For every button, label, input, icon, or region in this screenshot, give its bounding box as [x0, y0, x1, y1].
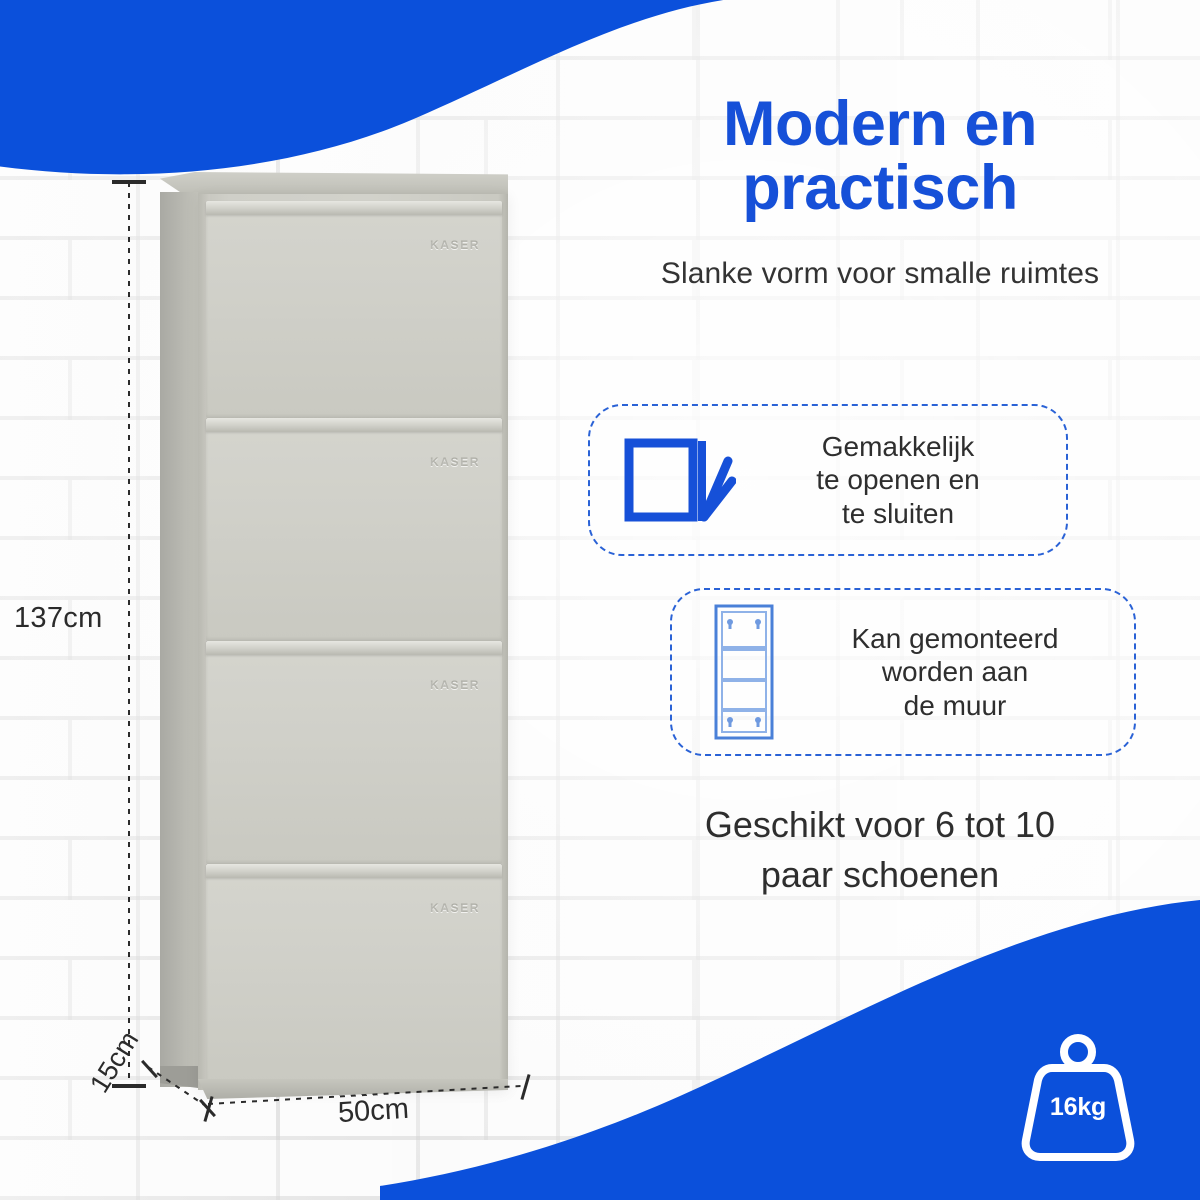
drawer-lip	[206, 864, 502, 878]
width-dimension-cap-right	[520, 1074, 530, 1100]
subtitle: Slanke vorm voor smalle ruimtes	[560, 257, 1200, 291]
drawer-lip	[206, 418, 502, 432]
height-dimension-line	[128, 182, 130, 1087]
wall-mount-cabinet-icon-svg	[712, 602, 776, 742]
tagline-line-2: paar schoenen	[590, 850, 1170, 900]
open-close-flap-icon-svg	[624, 437, 736, 523]
brand-emboss: KASER	[430, 901, 480, 915]
cabinet-drawer: KASER	[206, 652, 502, 864]
status-badge: 16kg	[1018, 1030, 1138, 1162]
drawer-lip	[206, 641, 502, 655]
cabinet-drawer: KASER	[206, 875, 502, 1085]
wall-mount-cabinet-icon	[698, 602, 790, 742]
feature-card-wall-mount-text: Kan gemonteerd worden aan de muur	[790, 622, 1120, 723]
capacity-tagline: Geschikt voor 6 tot 10 paar schoenen	[590, 800, 1170, 899]
feature-card-easy-open: Gemakkelijk te openen en te sluiten	[588, 404, 1068, 556]
feature-card-wall-mount: Kan gemonteerd worden aan de muur	[670, 588, 1136, 756]
feature-1-line-3: te sluiten	[744, 497, 1052, 531]
feature-2-line-2: worden aan	[790, 655, 1120, 689]
feature-2-line-1: Kan gemonteerd	[790, 622, 1120, 656]
brand-emboss: KASER	[430, 678, 480, 692]
product-dimension-area: KASER KASER KASER KASER 137cm	[0, 0, 560, 1200]
brand-emboss: KASER	[430, 455, 480, 469]
feature-2-line-3: de muur	[790, 689, 1120, 723]
cabinet-drawer: KASER	[206, 212, 502, 418]
feature-1-line-1: Gemakkelijk	[744, 430, 1052, 464]
depth-dimension-cap-start	[141, 1060, 158, 1078]
drawer-lip	[206, 201, 502, 215]
cabinet-side-panel	[160, 192, 198, 1087]
infographic-canvas: KASER KASER KASER KASER 137cm	[0, 0, 1200, 1200]
tagline-line-1: Geschikt voor 6 tot 10	[590, 800, 1170, 850]
page-title: Modern en practisch	[560, 92, 1200, 221]
shoe-cabinet-product-image: KASER KASER KASER KASER	[160, 172, 508, 1097]
weight-value-label: 16kg	[1018, 1093, 1138, 1122]
open-close-flap-icon	[616, 437, 744, 523]
height-dimension-label: 137cm	[14, 602, 103, 635]
cabinet-drawer: KASER	[206, 429, 502, 641]
headline-line-1: Modern en	[578, 92, 1182, 156]
feature-card-easy-open-text: Gemakkelijk te openen en te sluiten	[744, 430, 1052, 531]
headline-line-2: practisch	[578, 156, 1182, 220]
feature-1-line-2: te openen en	[744, 463, 1052, 497]
width-dimension-label: 50cm	[337, 1093, 410, 1130]
marketing-copy-column: Modern en practisch Slanke vorm voor sma…	[560, 0, 1200, 1200]
brand-emboss: KASER	[430, 238, 480, 252]
